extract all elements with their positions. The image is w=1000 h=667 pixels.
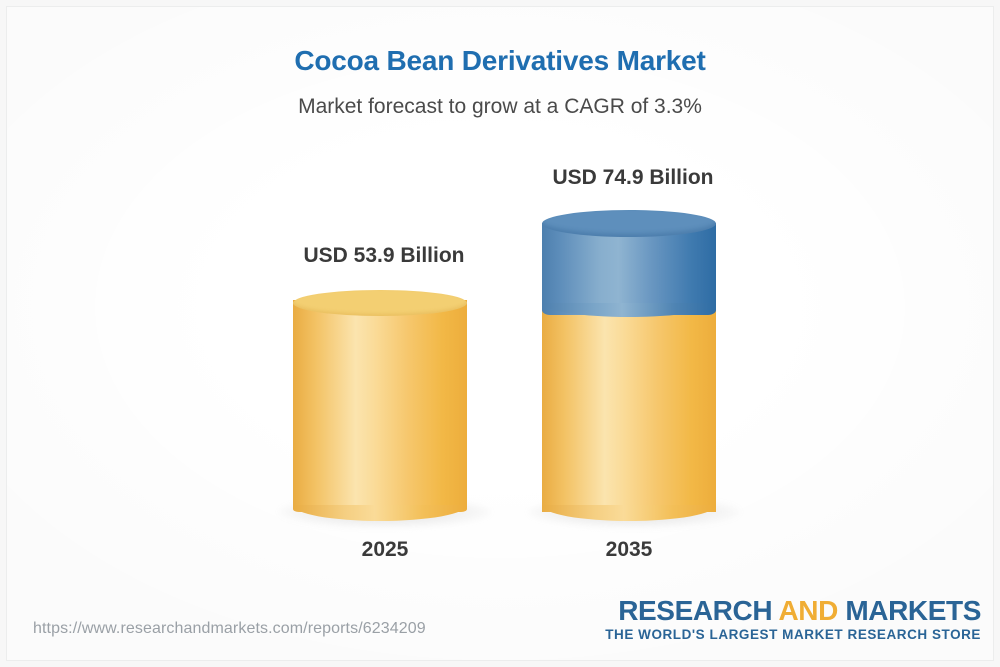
logo-word-markets: MARKETS	[845, 595, 981, 626]
logo-tagline: THE WORLD'S LARGEST MARKET RESEARCH STOR…	[605, 627, 981, 642]
logo-word-and: AND	[778, 595, 837, 626]
research-and-markets-logo[interactable]: RESEARCH AND MARKETS THE WORLD'S LARGEST…	[605, 596, 981, 642]
bar-body-yellow-2035	[542, 310, 716, 512]
bar-chart-plot: USD 53.9 Billion 2025 USD 74.9 Billion	[7, 7, 994, 661]
chart-card: Cocoa Bean Derivatives Market Market for…	[0, 0, 1000, 667]
logo-word-research: RESEARCH	[618, 595, 772, 626]
logo-wordmark: RESEARCH AND MARKETS	[605, 596, 981, 625]
value-label-2035: USD 74.9 Billion	[483, 166, 783, 190]
bar-top-2025	[293, 290, 467, 316]
bar-body-2025	[293, 300, 467, 512]
value-label-2025: USD 53.9 Billion	[234, 244, 534, 268]
source-url[interactable]: https://www.researchandmarkets.com/repor…	[33, 620, 426, 638]
category-label-2035: 2035	[479, 538, 779, 562]
chart-canvas: Cocoa Bean Derivatives Market Market for…	[6, 6, 994, 661]
bar-top-2035	[542, 210, 716, 237]
